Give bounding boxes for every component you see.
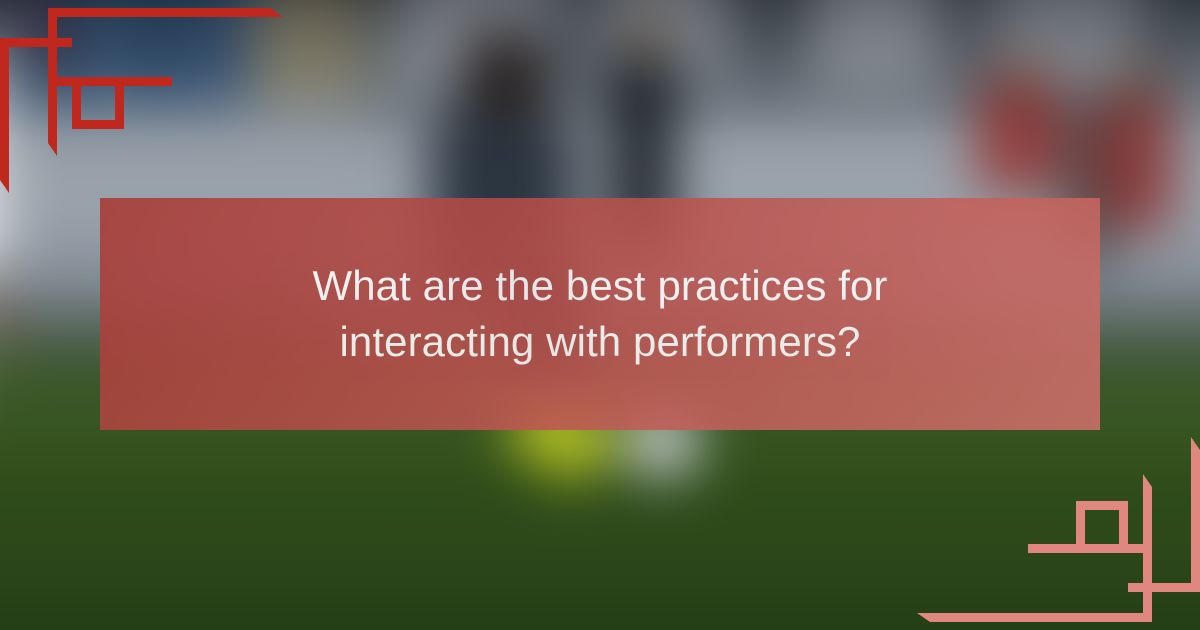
title-banner: What are the best practices for interact…: [100, 198, 1100, 430]
page-title: What are the best practices for interact…: [100, 258, 1100, 370]
header-card: What are the best practices for interact…: [0, 0, 1200, 630]
